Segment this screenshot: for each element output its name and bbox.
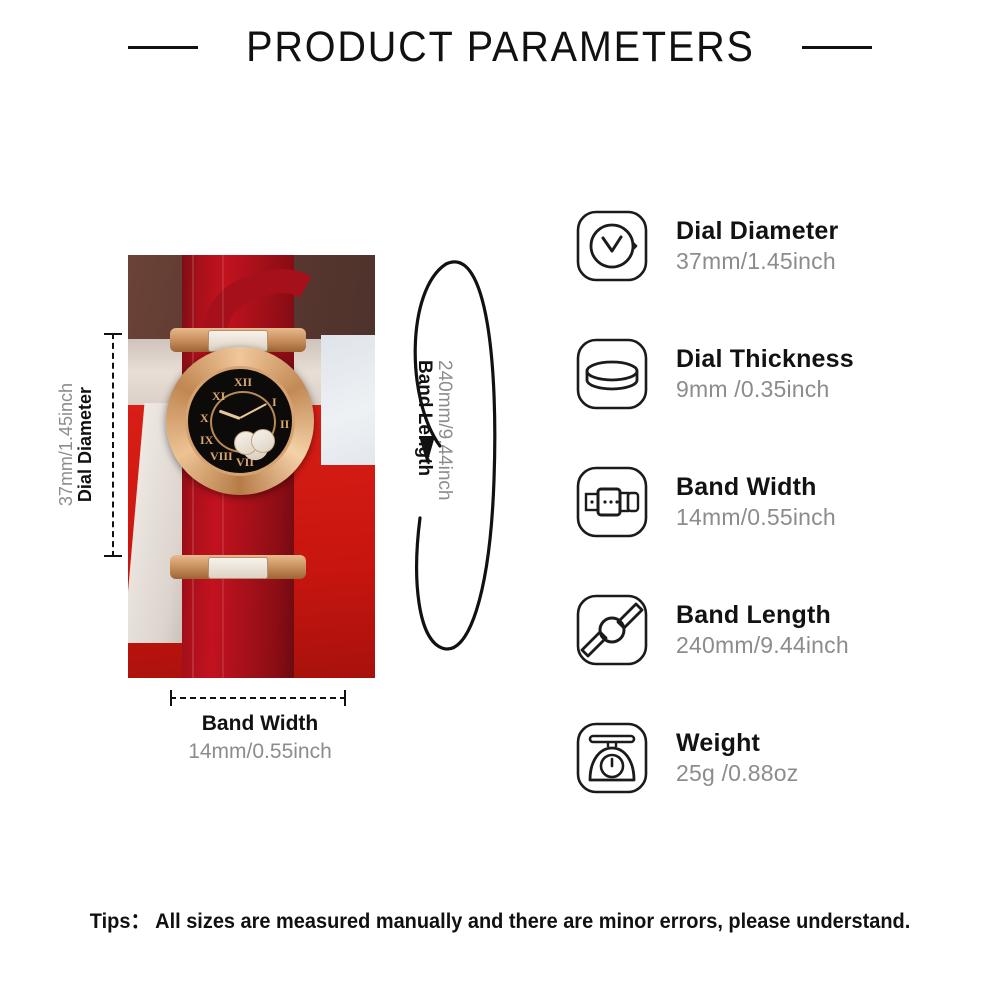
spec-title-band-width: Band Width — [676, 472, 972, 503]
spec-list: Dial Diameter 37mm/1.45inch Dial Thickne… — [572, 182, 972, 822]
spec-row-dial-thickness: Dial Thickness 9mm /0.35inch — [572, 310, 972, 438]
measure-cap-right — [344, 690, 346, 706]
spec-text-dial-thickness: Dial Thickness 9mm /0.35inch — [676, 344, 972, 403]
kitchen-scale-icon — [572, 718, 652, 798]
watch-case: XII I II XI X IX VIII VII — [166, 347, 314, 495]
watch-lug-bottom — [170, 555, 306, 579]
band-width-measure-line — [170, 690, 346, 706]
band-length-annotation: Band Length 240mm/9.44inch — [404, 360, 464, 600]
spec-row-weight: Weight 25g /0.88oz — [572, 694, 972, 822]
measure-dashed-line-horizontal — [170, 697, 346, 699]
dial-numeral-x: X — [200, 411, 209, 426]
spec-value-band-width: 14mm/0.55inch — [676, 503, 972, 532]
dial-numeral-viii: VIII — [210, 449, 233, 464]
header-rule-right — [802, 46, 872, 49]
tips-note: Tips： All sizes are measured manually an… — [25, 905, 975, 935]
lug-rhinestone-bottom — [208, 557, 268, 579]
dial-numeral-ii: II — [280, 417, 289, 432]
spec-text-band-length: Band Length 240mm/9.44inch — [676, 600, 972, 659]
spec-text-weight: Weight 25g /0.88oz — [676, 728, 972, 787]
spec-text-dial-diameter: Dial Diameter 37mm/1.45inch — [676, 216, 972, 275]
band-width-annotation: Band Width 14mm/0.55inch — [120, 710, 400, 767]
spec-value-weight: 25g /0.88oz — [676, 759, 972, 788]
buckle-icon — [572, 462, 652, 542]
dial-heart-motif — [234, 429, 278, 461]
dial-diameter-annotation: 37mm/1.45inch Dial Diameter — [48, 333, 104, 557]
spec-value-band-length: 240mm/9.44inch — [676, 631, 972, 660]
watch-dial: XII I II XI X IX VIII VII — [185, 366, 295, 476]
band-width-annotation-value: 14mm/0.55inch — [120, 738, 400, 766]
spec-title-dial-thickness: Dial Thickness — [676, 344, 972, 375]
measure-dashed-line — [112, 333, 114, 557]
dial-diameter-annotation-title: Dial Diameter — [76, 387, 95, 502]
band-length-annotation-title: Band Length — [414, 360, 434, 476]
header-rule-left — [128, 46, 198, 49]
band-length-annotation-value: 240mm/9.44inch — [434, 360, 454, 500]
spec-title-band-length: Band Length — [676, 600, 972, 631]
spec-value-dial-diameter: 37mm/1.45inch — [676, 247, 972, 276]
spec-title-dial-diameter: Dial Diameter — [676, 216, 972, 247]
spec-value-dial-thickness: 9mm /0.35inch — [676, 375, 972, 404]
watch-band-icon — [572, 590, 652, 670]
heart-lobe-right — [251, 429, 275, 453]
measure-cap-bottom — [104, 555, 122, 557]
spec-title-weight: Weight — [676, 728, 972, 759]
spec-row-band-length: Band Length 240mm/9.44inch — [572, 566, 972, 694]
dial-diameter-measure-line — [104, 333, 122, 557]
dial-diameter-annotation-value: 37mm/1.45inch — [57, 383, 76, 506]
dial-numeral-i: I — [272, 395, 277, 410]
spec-row-band-width: Band Width 14mm/0.55inch — [572, 438, 972, 566]
watch-dial-icon — [572, 206, 652, 286]
product-photo: XII I II XI X IX VIII VII — [128, 255, 375, 678]
band-width-annotation-title: Band Width — [120, 710, 400, 738]
disc-thickness-icon — [572, 334, 652, 414]
page-header: PRODUCT PARAMETERS — [0, 0, 1000, 95]
dial-numeral-xi: XI — [212, 389, 225, 404]
dial-numeral-xii: XII — [234, 375, 252, 390]
spec-text-band-width: Band Width 14mm/0.55inch — [676, 472, 972, 531]
page-title: PRODUCT PARAMETERS — [246, 23, 755, 72]
spec-row-dial-diameter: Dial Diameter 37mm/1.45inch — [572, 182, 972, 310]
dial-numeral-ix: IX — [200, 433, 213, 448]
